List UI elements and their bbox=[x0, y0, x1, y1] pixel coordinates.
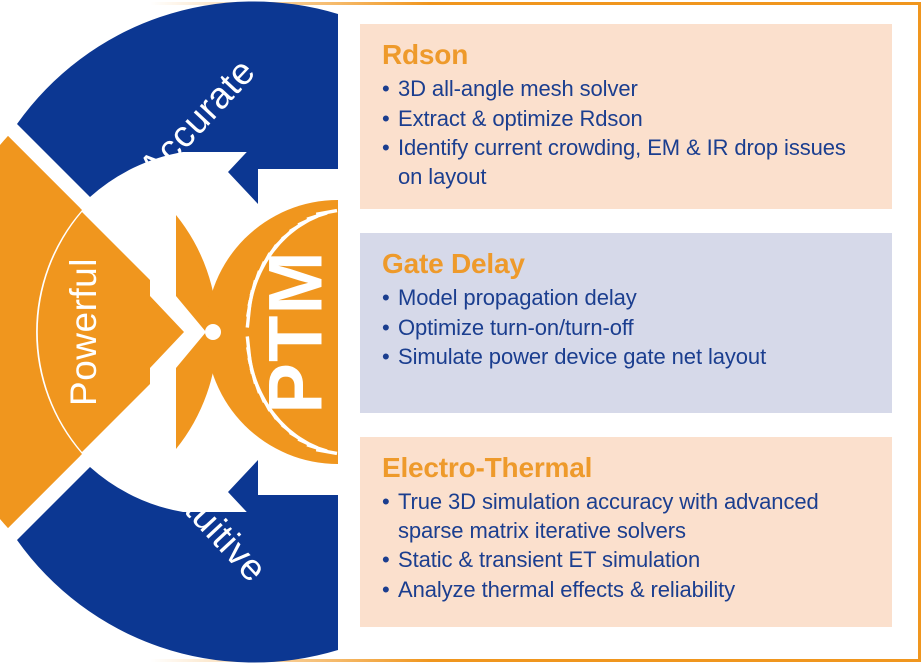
ptm-semicircle-diagram: Accurate Powerful Intuitive bbox=[0, 0, 345, 664]
ptm-dial[interactable]: PTM bbox=[205, 200, 339, 464]
feature-panels: Rdson 3D all-angle mesh solver Extract &… bbox=[360, 0, 894, 664]
ptm-center-label: PTM bbox=[254, 250, 339, 413]
segment-label-powerful: Powerful bbox=[63, 258, 104, 406]
frame-right-border bbox=[918, 2, 921, 662]
list-item: Analyze thermal effects & reliability bbox=[382, 576, 870, 605]
dial-indicator-dot bbox=[205, 324, 221, 340]
list-item: 3D all-angle mesh solver bbox=[382, 75, 870, 104]
segment-intuitive[interactable]: Intuitive bbox=[17, 460, 338, 663]
bullet-list-gate-delay: Model propagation delay Optimize turn-on… bbox=[382, 284, 870, 372]
panel-title-electro-thermal: Electro-Thermal bbox=[382, 451, 870, 484]
bullet-list-rdson: 3D all-angle mesh solver Extract & optim… bbox=[382, 75, 870, 191]
list-item: Identify current crowding, EM & IR drop … bbox=[382, 134, 870, 191]
list-item: Simulate power device gate net layout bbox=[382, 343, 870, 372]
list-item: True 3D simulation accuracy with advance… bbox=[382, 488, 870, 545]
panel-title-gate-delay: Gate Delay bbox=[382, 247, 870, 280]
segment-accurate[interactable]: Accurate bbox=[17, 1, 338, 204]
bullet-list-electro-thermal: True 3D simulation accuracy with advance… bbox=[382, 488, 870, 604]
panel-rdson[interactable]: Rdson 3D all-angle mesh solver Extract &… bbox=[360, 24, 892, 209]
panel-electro-thermal[interactable]: Electro-Thermal True 3D simulation accur… bbox=[360, 437, 892, 627]
panel-gate-delay[interactable]: Gate Delay Model propagation delay Optim… bbox=[360, 233, 892, 413]
list-item: Static & transient ET simulation bbox=[382, 546, 870, 575]
list-item: Model propagation delay bbox=[382, 284, 870, 313]
list-item: Optimize turn-on/turn-off bbox=[382, 314, 870, 343]
panel-title-rdson: Rdson bbox=[382, 38, 870, 71]
infographic-page: Accurate Powerful Intuitive bbox=[0, 0, 923, 664]
list-item: Extract & optimize Rdson bbox=[382, 105, 870, 134]
